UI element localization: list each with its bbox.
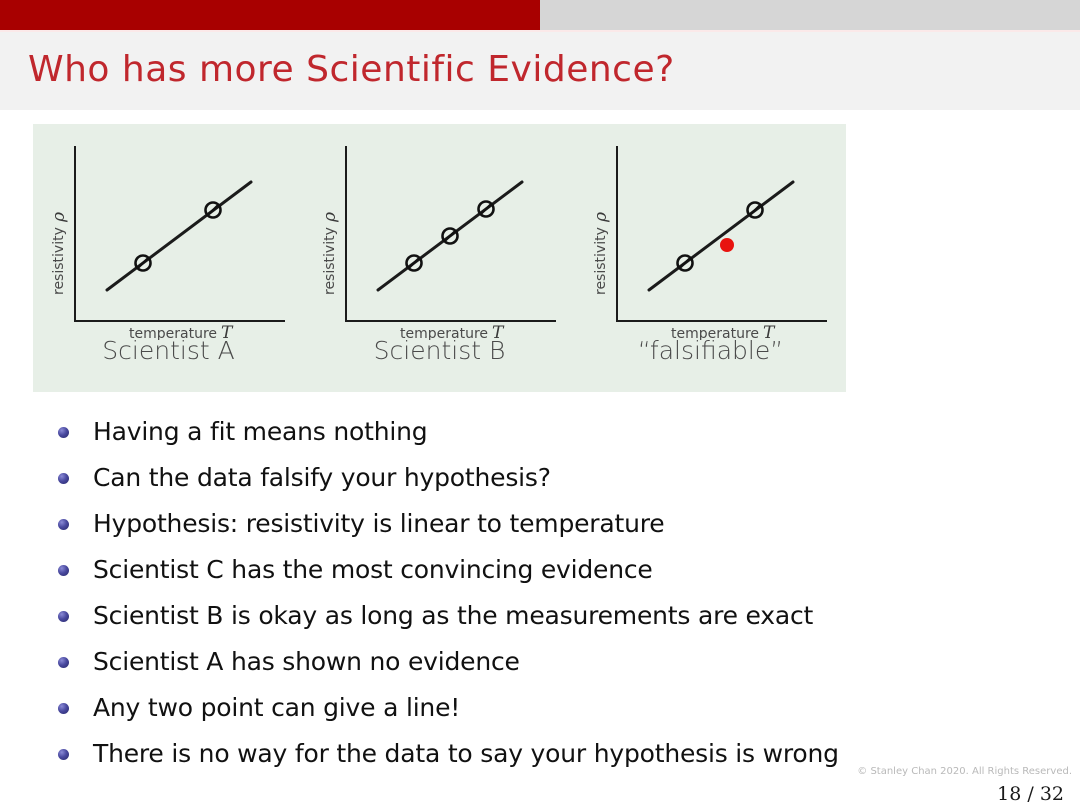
data-point-a1 <box>136 256 151 271</box>
data-point-b1 <box>407 256 422 271</box>
bullet-dot-icon <box>58 427 69 438</box>
chart-svg-a: temperature T resistivity ρ <box>33 130 304 340</box>
data-point-b3 <box>479 202 494 217</box>
chart-caption-a: Scientist A <box>33 336 304 365</box>
chart-c-ylabel-text: resistivity <box>593 227 609 295</box>
bullet-text: Can the data falsify your hypothesis? <box>93 458 551 498</box>
chart-panel-scientist-a: temperature T resistivity ρ Scientist A <box>33 124 304 392</box>
bullet-dot-icon <box>58 749 69 760</box>
bullet-text: Any two point can give a line! <box>93 688 460 728</box>
data-point-c1 <box>678 256 693 271</box>
top-gray-bar <box>0 0 1080 30</box>
chart-b-ylabel-text: resistivity <box>322 227 338 295</box>
copyright-notice: © Stanley Chan 2020. All Rights Reserved… <box>857 766 1072 777</box>
list-item: Can the data falsify your hypothesis? <box>58 458 1038 504</box>
list-item: Having a fit means nothing <box>58 412 1038 458</box>
figure-panel: temperature T resistivity ρ Scientist A … <box>33 124 846 392</box>
chart-b-ylabel-symbol: ρ <box>320 212 340 223</box>
bullet-dot-icon <box>58 519 69 530</box>
bullet-text: Having a fit means nothing <box>93 412 427 452</box>
list-item: Scientist A has shown no evidence <box>58 642 1038 688</box>
chart-a-ylabel-symbol: ρ <box>49 212 69 223</box>
top-red-accent-bar <box>0 0 540 30</box>
bullet-dot-icon <box>58 565 69 576</box>
bullet-dot-icon <box>58 657 69 668</box>
chart-caption-c: “falsifiable” <box>575 336 846 365</box>
data-point-a2 <box>206 203 221 218</box>
list-item: Scientist B is okay as long as the measu… <box>58 596 1038 642</box>
falsifying-data-point <box>720 238 734 252</box>
chart-c-ylabel-symbol: ρ <box>591 212 611 223</box>
bullet-text: Scientist B is okay as long as the measu… <box>93 596 813 636</box>
chart-a-ylabel-text: resistivity <box>51 227 67 295</box>
chart-panel-falsifiable: temperature T resistivity ρ “falsifiable… <box>575 124 846 392</box>
page-number: 18 / 32 <box>997 783 1064 805</box>
bullet-text: Scientist A has shown no evidence <box>93 642 520 682</box>
data-point-c2 <box>748 203 763 218</box>
data-point-b2 <box>443 229 458 244</box>
bullet-dot-icon <box>58 703 69 714</box>
list-item: Any two point can give a line! <box>58 688 1038 734</box>
page-title: Who has more Scientific Evidence? <box>28 49 675 90</box>
bullet-text: There is no way for the data to say your… <box>93 734 839 774</box>
bullet-dot-icon <box>58 473 69 484</box>
chart-svg-c: temperature T resistivity ρ <box>575 130 846 340</box>
chart-svg-b: temperature T resistivity ρ <box>304 130 575 340</box>
bullet-list: Having a fit means nothing Can the data … <box>58 412 1038 780</box>
chart-panel-scientist-b: temperature T resistivity ρ Scientist B <box>304 124 575 392</box>
bullet-dot-icon <box>58 611 69 622</box>
list-item: Hypothesis: resistivity is linear to tem… <box>58 504 1038 550</box>
list-item: Scientist C has the most convincing evid… <box>58 550 1038 596</box>
chart-caption-b: Scientist B <box>304 336 575 365</box>
bullet-text: Scientist C has the most convincing evid… <box>93 550 653 590</box>
bullet-text: Hypothesis: resistivity is linear to tem… <box>93 504 664 544</box>
